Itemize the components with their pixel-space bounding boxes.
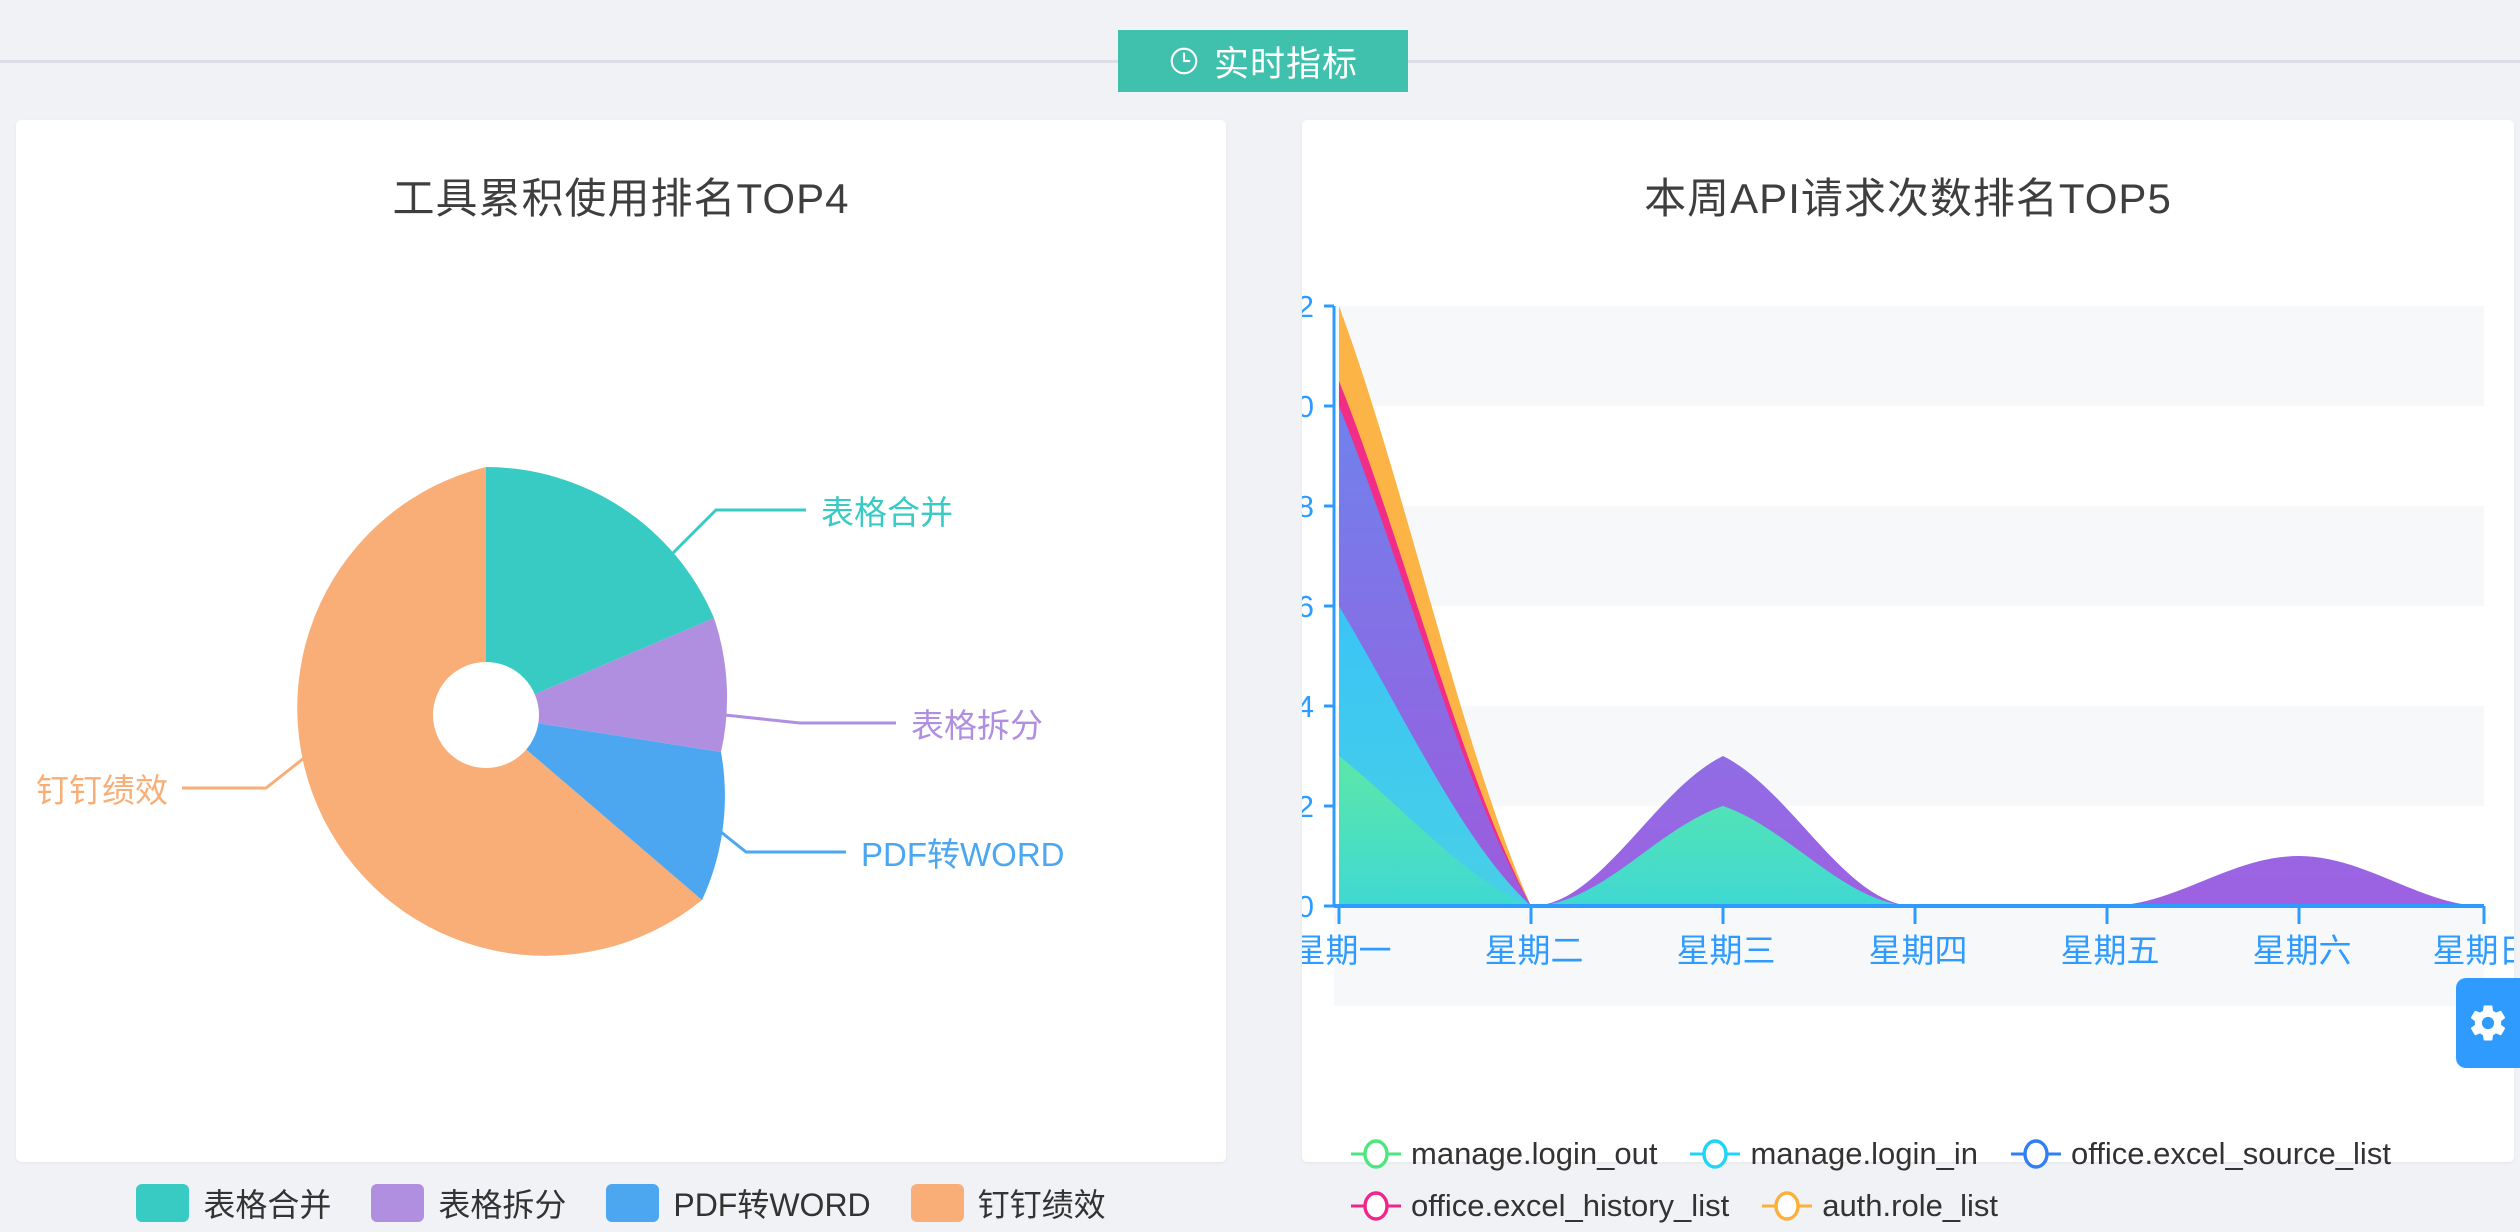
legend-swatch-table-split bbox=[371, 1184, 424, 1222]
svg-text:8: 8 bbox=[1302, 489, 1314, 524]
legend-label-auth-role-list: auth.role_list bbox=[1822, 1188, 1998, 1224]
legend-item-office-excel-source-list[interactable]: office.excel_source_list bbox=[2010, 1128, 2391, 1180]
svg-text:星期五: 星期五 bbox=[2061, 932, 2160, 969]
legend-marker-office-excel-source-list bbox=[2010, 1139, 2062, 1169]
legend-marker-auth-role-list bbox=[1761, 1191, 1813, 1221]
legend-label-manage-login-out: manage.login_out bbox=[1411, 1136, 1657, 1172]
grid-band-1 bbox=[1334, 306, 2484, 406]
legend-label-manage-login-in: manage.login_in bbox=[1750, 1136, 1978, 1172]
callout-label-dingding: 钉钉绩效 bbox=[36, 772, 168, 809]
area-legend: manage.login_out manage.login_in office.… bbox=[1350, 1128, 2510, 1232]
left-card-title: 工具累积使用排名TOP4 bbox=[16, 165, 1226, 226]
legend-item-dingding[interactable]: 钉钉绩效 bbox=[911, 1180, 1106, 1226]
callout-label-table-merge: 表格合并 bbox=[821, 494, 953, 531]
doughnut-svg: 表格合并 表格拆分 PDF转WORD 钉钉绩效 bbox=[16, 310, 1226, 1000]
legend-item-office-excel-history-list[interactable]: office.excel_history_list bbox=[1350, 1180, 1729, 1232]
legend-item-pdf-to-word[interactable]: PDF转WORD bbox=[606, 1180, 870, 1226]
svg-text:星期六: 星期六 bbox=[2253, 932, 2352, 969]
legend-label-office-excel-source-list: office.excel_source_list bbox=[2071, 1136, 2391, 1172]
pie-legend: 表格合并 表格拆分 PDF转WORD 钉钉绩效 bbox=[16, 1180, 1226, 1226]
dashboard-page: 实时指标 工具累积使用排名TOP4 表格合并 表 bbox=[0, 0, 2520, 1176]
legend-item-auth-role-list[interactable]: auth.role_list bbox=[1761, 1180, 1998, 1232]
svg-text:0: 0 bbox=[1302, 889, 1314, 924]
y-axis-labels: 12 10 8 6 4 2 0 bbox=[1302, 290, 1314, 924]
clock-icon bbox=[1168, 45, 1200, 77]
grid-band-2 bbox=[1334, 506, 2484, 606]
svg-text:星期四: 星期四 bbox=[1869, 932, 1968, 969]
settings-fab[interactable] bbox=[2456, 978, 2520, 1068]
legend-label-dingding: 钉钉绩效 bbox=[978, 1180, 1106, 1226]
right-card-title: 本周API请求次数排名TOP5 bbox=[1302, 165, 2514, 226]
realtime-metrics-banner: 实时指标 bbox=[1118, 30, 1408, 92]
callout-line-table-split bbox=[706, 713, 896, 723]
api-requests-card: 本周API请求次数排名TOP5 bbox=[1302, 120, 2514, 1162]
legend-label-table-split: 表格拆分 bbox=[438, 1180, 566, 1226]
legend-label-pdf-to-word: PDF转WORD bbox=[673, 1180, 870, 1226]
svg-text:星期一: 星期一 bbox=[1302, 932, 1392, 969]
svg-text:10: 10 bbox=[1302, 389, 1314, 424]
svg-text:12: 12 bbox=[1302, 290, 1314, 324]
legend-item-table-split[interactable]: 表格拆分 bbox=[371, 1180, 566, 1226]
callout-line-dingding bbox=[182, 747, 318, 788]
svg-text:6: 6 bbox=[1302, 589, 1314, 624]
x-axis-labels: 星期一 星期二 星期三 星期四 星期五 星期六 星期日 bbox=[1302, 932, 2514, 969]
legend-swatch-table-merge bbox=[136, 1184, 189, 1222]
legend-label-table-merge: 表格合并 bbox=[203, 1180, 331, 1226]
legend-item-manage-login-out[interactable]: manage.login_out bbox=[1350, 1128, 1657, 1180]
area-office-excel-source-list[interactable] bbox=[1339, 406, 2484, 906]
area-office-excel-history-list[interactable] bbox=[1339, 381, 2484, 906]
doughnut-hole bbox=[433, 662, 539, 768]
banner-label: 实时指标 bbox=[1214, 36, 1358, 87]
svg-text:4: 4 bbox=[1302, 689, 1314, 724]
legend-label-office-excel-history-list: office.excel_history_list bbox=[1411, 1188, 1729, 1224]
tool-usage-card: 工具累积使用排名TOP4 表格合并 表格拆分 bbox=[16, 120, 1226, 1162]
svg-text:星期三: 星期三 bbox=[1677, 932, 1776, 969]
legend-marker-manage-login-out bbox=[1350, 1139, 1402, 1169]
legend-swatch-pdf-to-word bbox=[606, 1184, 659, 1222]
legend-item-manage-login-in[interactable]: manage.login_in bbox=[1689, 1128, 1978, 1180]
callout-label-table-split: 表格拆分 bbox=[911, 707, 1043, 744]
svg-text:2: 2 bbox=[1302, 789, 1314, 824]
legend-swatch-dingding bbox=[911, 1184, 964, 1222]
callout-label-pdf-to-word: PDF转WORD bbox=[861, 836, 1064, 873]
area-svg: 12 10 8 6 4 2 0 bbox=[1302, 290, 2514, 1090]
gear-icon bbox=[2467, 1002, 2509, 1044]
legend-item-table-merge[interactable]: 表格合并 bbox=[136, 1180, 331, 1226]
stacked-area-chart: 12 10 8 6 4 2 0 bbox=[1302, 290, 2514, 1090]
legend-marker-office-excel-history-list bbox=[1350, 1191, 1402, 1221]
grid-band-3 bbox=[1334, 706, 2484, 806]
svg-text:星期二: 星期二 bbox=[1485, 932, 1584, 969]
svg-text:星期日: 星期日 bbox=[2433, 932, 2515, 969]
legend-marker-manage-login-in bbox=[1689, 1139, 1741, 1169]
doughnut-chart: 表格合并 表格拆分 PDF转WORD 钉钉绩效 bbox=[16, 310, 1226, 1000]
